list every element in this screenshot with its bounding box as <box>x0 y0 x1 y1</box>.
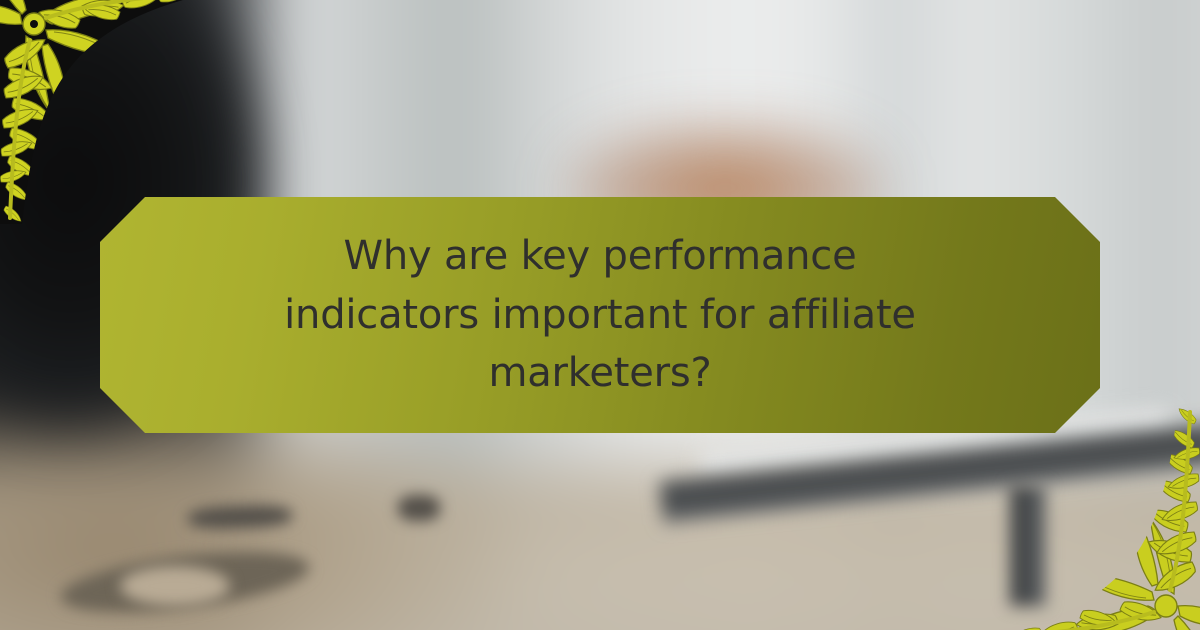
background-small-object <box>398 495 440 521</box>
share-card: Why are key performance indicators impor… <box>0 0 1200 630</box>
headline-banner: Why are key performance indicators impor… <box>100 197 1100 433</box>
background-eyeglasses-highlight <box>120 566 230 606</box>
background-table-leg <box>1010 486 1046 606</box>
headline-text: Why are key performance indicators impor… <box>210 227 990 402</box>
